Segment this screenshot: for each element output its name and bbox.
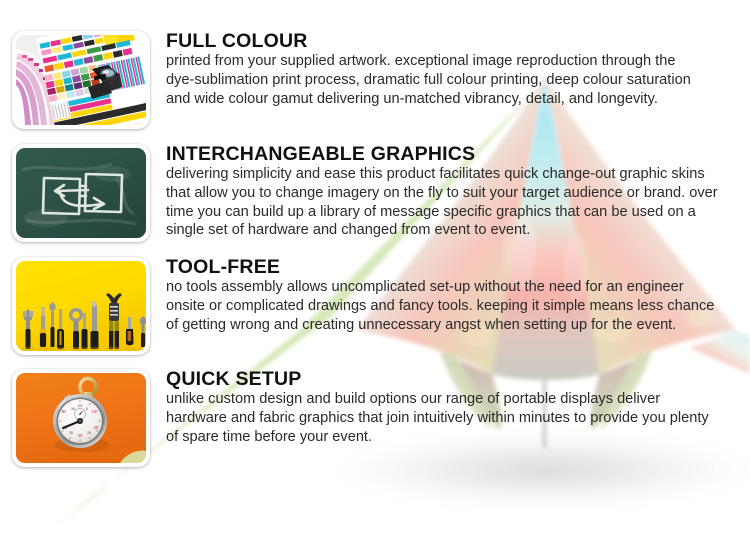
feature-thumbnail-full-colour — [12, 31, 150, 129]
feature-body: unlike custom design and build options o… — [166, 390, 718, 446]
feature-thumbnail-interchangeable-graphics — [12, 144, 150, 242]
feature-title: INTERCHANGEABLE GRAPHICS — [166, 144, 728, 164]
feature-title: TOOL-FREE — [166, 257, 724, 277]
feature-text-block: INTERCHANGEABLE GRAPHICS delivering simp… — [166, 144, 750, 240]
stopwatch-on-orange: 60 10 20 30 40 50 5 55 25 35 — [16, 373, 146, 463]
feature-list-page: FULL COLOUR printed from your supplied a… — [0, 0, 750, 556]
svg-text:5: 5 — [86, 407, 88, 411]
svg-text:10: 10 — [92, 409, 97, 414]
chalkboard-exchange-arrows — [16, 148, 146, 238]
feature-title: QUICK SETUP — [166, 369, 718, 389]
hand-tools-on-yellow — [16, 261, 146, 351]
feature-body: printed from your supplied artwork. exce… — [166, 52, 696, 108]
feature-body: no tools assembly allows uncomplicated s… — [166, 278, 724, 334]
feature-text-block: TOOL-FREE no tools assembly allows uncom… — [166, 257, 750, 334]
svg-text:20: 20 — [94, 425, 99, 430]
feature-row: TOOL-FREE no tools assembly allows uncom… — [0, 257, 750, 355]
feature-row: FULL COLOUR printed from your supplied a… — [0, 31, 750, 129]
feature-thumbnail-tool-free — [12, 257, 150, 355]
feature-row: INTERCHANGEABLE GRAPHICS delivering simp… — [0, 144, 750, 242]
feature-thumbnail-quick-setup: 60 10 20 30 40 50 5 55 25 35 — [12, 369, 150, 467]
cmyk-print-swatches-photo — [16, 35, 146, 125]
feature-row: 60 10 20 30 40 50 5 55 25 35 — [0, 369, 750, 467]
svg-text:30: 30 — [78, 433, 83, 438]
svg-text:35: 35 — [69, 431, 73, 435]
feature-text-block: FULL COLOUR printed from your supplied a… — [166, 31, 750, 108]
svg-text:25: 25 — [87, 431, 91, 435]
feature-text-block: QUICK SETUP unlike custom design and bui… — [166, 369, 750, 446]
feature-body: delivering simplicity and ease this prod… — [166, 165, 728, 239]
feature-title: FULL COLOUR — [166, 31, 696, 51]
